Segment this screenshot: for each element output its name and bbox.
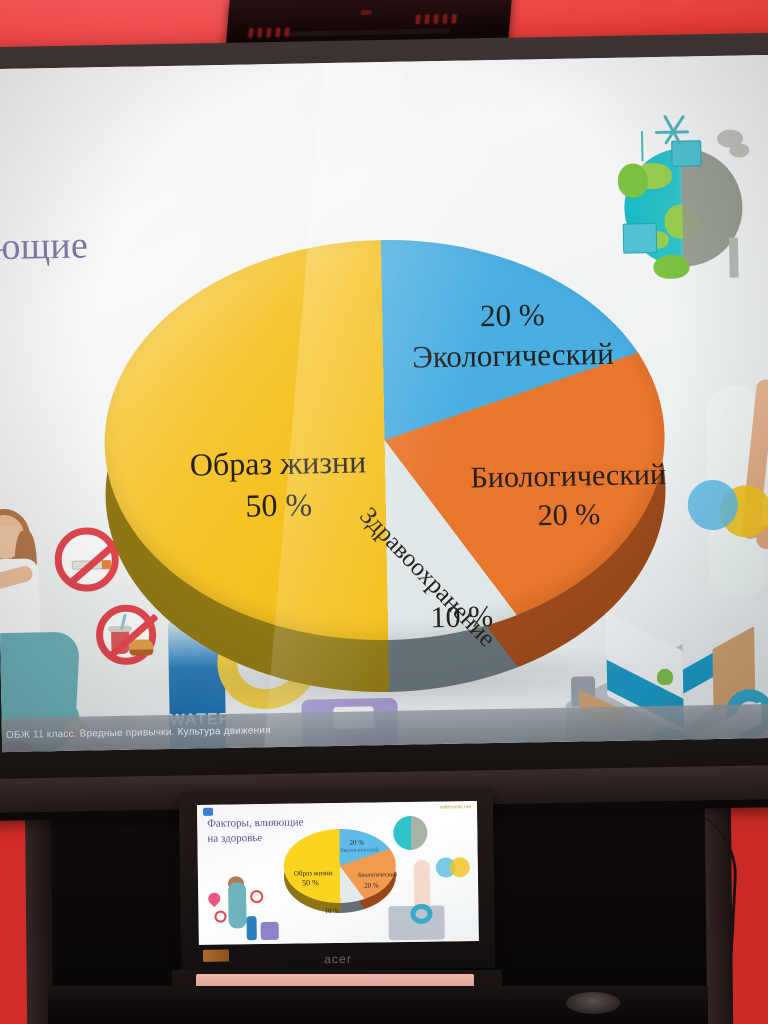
mini-life-percent: 50 % xyxy=(302,878,319,887)
led-group-right xyxy=(416,14,457,24)
mini-water-bottle-icon xyxy=(246,916,256,940)
smoke-cloud-icon xyxy=(729,143,749,157)
led-indicator xyxy=(267,28,272,37)
mini-eco-percent: 20 % xyxy=(349,839,364,847)
mini-health-percent: 10 % xyxy=(324,907,339,915)
laptop-lid: videouroki.net Факторы, влияющие на здор… xyxy=(179,788,495,972)
led-indicator xyxy=(452,14,457,23)
wall-strip-right xyxy=(730,808,768,1024)
life-name: Образ жизни xyxy=(133,439,424,487)
led-indicator xyxy=(434,15,439,24)
wind-turbine-icon xyxy=(641,131,644,161)
laptop-screen[interactable]: videouroki.net Факторы, влияющие на здор… xyxy=(197,801,479,945)
screenshot-root: , влияющие вье xyxy=(0,0,768,1024)
powerpoint-logo-icon xyxy=(203,808,213,816)
slide-footer-text: ОБЖ 11 класс. Вредные привычки. Культура… xyxy=(2,725,271,741)
mini-yoga-woman-icon xyxy=(228,882,247,928)
mini-bio-name: Биологический xyxy=(358,872,397,879)
mini-life-name: Образ жизни xyxy=(294,869,333,878)
camera-lens-icon xyxy=(360,10,371,15)
power-cable xyxy=(602,803,741,980)
mini-bio-percent: 20 % xyxy=(364,881,379,889)
mini-badge-icon xyxy=(450,857,470,877)
tree-icon xyxy=(618,163,649,198)
mini-scale-icon xyxy=(261,922,279,940)
led-indicator xyxy=(258,28,263,37)
mini-badges xyxy=(436,857,472,878)
slice-label-ecological: 20 % Экологический xyxy=(362,293,663,378)
eco-percent: 20 % xyxy=(362,293,663,338)
eco-name: Экологический xyxy=(363,333,664,378)
mini-no-smoking-icon xyxy=(250,890,263,903)
eco-building-icon xyxy=(671,140,701,167)
laptop-brand-label: acer xyxy=(181,950,495,968)
display-screen[interactable]: , влияющие вье xyxy=(0,55,768,752)
slice-percent-healthcare: 10 % xyxy=(392,599,533,636)
led-indicator xyxy=(443,14,448,23)
led-group-left xyxy=(249,28,290,38)
desk-object xyxy=(566,992,620,1014)
mini-lifestyle-cluster xyxy=(206,876,277,943)
led-indicator xyxy=(425,15,430,24)
led-indicator xyxy=(285,28,290,37)
mini-no-alcohol-icon xyxy=(214,911,226,923)
mini-eco-name: Экологический xyxy=(340,847,379,854)
mini-globe-icon xyxy=(393,816,427,850)
bio-percent: 20 % xyxy=(424,493,715,537)
led-indicator xyxy=(276,28,281,37)
led-indicator xyxy=(249,28,254,37)
laptop-slide-preview[interactable]: videouroki.net Факторы, влияющие на здор… xyxy=(197,801,479,945)
bar-seam xyxy=(289,28,450,36)
factory-chimney-icon xyxy=(729,238,739,278)
slice-label-biological: Биологический 20 % xyxy=(423,454,714,537)
presentation-slide[interactable]: , влияющие вье xyxy=(0,55,768,752)
bio-name: Биологический xyxy=(423,454,714,498)
led-indicator xyxy=(416,15,421,24)
source-watermark: videouroki.net xyxy=(440,804,471,810)
interactive-display-frame: , влияющие вье xyxy=(0,33,768,783)
mini-heart-icon xyxy=(206,890,223,907)
